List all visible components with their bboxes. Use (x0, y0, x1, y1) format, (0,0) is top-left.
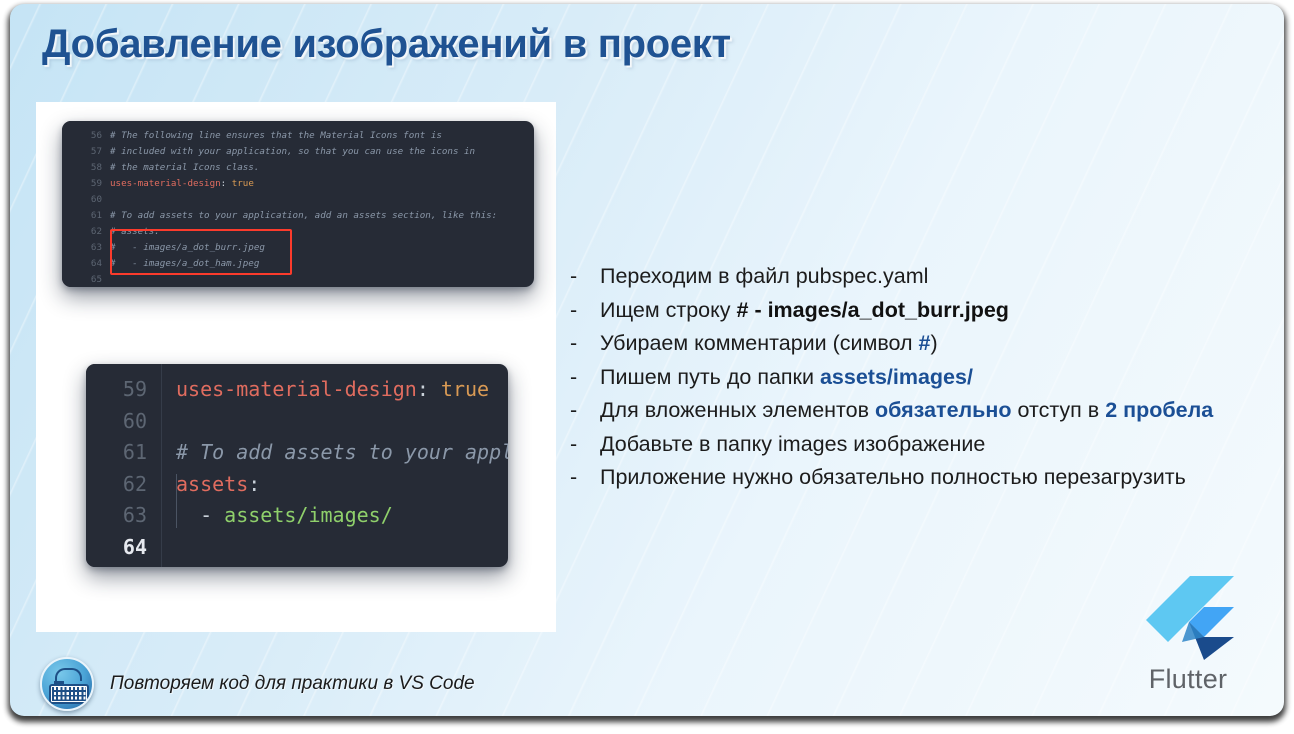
code-line: # - images/a_dot_ham.jpeg (110, 256, 534, 272)
footer-note: Повторяем код для практики в VS Code (40, 657, 475, 711)
text-run: assets/images/ (820, 365, 973, 389)
code-line (110, 192, 534, 208)
code-token: # included with your application, so tha… (110, 146, 475, 157)
list-bullet-dash: - (570, 294, 600, 328)
code-line (176, 532, 508, 564)
indent-guide (176, 474, 177, 528)
list-item-text: Приложение нужно обязательно полностью п… (600, 461, 1186, 495)
code-line: - assets/images/ (176, 500, 508, 532)
flutter-wordmark: Flutter (1118, 664, 1258, 695)
line-number: 57 (62, 144, 102, 160)
list-item-text: Убираем комментарии (символ #) (600, 327, 938, 361)
list-bullet-dash: - (570, 361, 600, 395)
list-item: -Пишем путь до папки assets/images/ (570, 361, 1282, 395)
code-token: assets/images/ (224, 503, 393, 527)
code-area-after: uses-material-design: true # To add asse… (162, 364, 508, 567)
code-token: # To add assets to your application, add… (110, 210, 497, 221)
line-number-gutter-before: 56575859606162636465 (62, 121, 110, 287)
line-number: 56 (62, 128, 102, 144)
code-line (110, 272, 534, 287)
text-run: Пишем путь до папки (600, 365, 820, 389)
code-token (110, 194, 116, 205)
list-bullet-dash: - (570, 260, 600, 294)
slide-canvas: Добавление изображений в проект 56575859… (10, 4, 1284, 716)
code-line: # included with your application, so tha… (110, 144, 534, 160)
line-number: 58 (62, 160, 102, 176)
code-token: # assets: (110, 226, 160, 237)
code-token: # The following line ensures that the Ma… (110, 130, 442, 141)
code-token: : (248, 472, 260, 496)
code-token: # - images/a_dot_burr.jpeg (110, 242, 265, 253)
page-title: Добавление изображений в проект (42, 22, 731, 67)
code-block-after: 596061626364 uses-material-design: true … (86, 364, 508, 567)
keyboard-keys (52, 687, 86, 701)
list-item-text: Переходим в файл pubspec.yaml (600, 260, 928, 294)
text-run: - images/a_dot_burr.jpeg (748, 298, 1008, 322)
code-line: # the material Icons class. (110, 160, 534, 176)
footer-text: Повторяем код для практики в VS Code (110, 673, 475, 695)
text-run: ) (931, 331, 938, 355)
code-token: : (417, 377, 441, 401)
list-bullet-dash: - (570, 428, 600, 462)
line-number: 65 (62, 272, 102, 287)
code-token (176, 535, 188, 559)
code-token (176, 409, 188, 433)
line-number: 60 (62, 192, 102, 208)
flutter-brand: Flutter (1118, 576, 1258, 698)
line-number: 61 (86, 437, 147, 469)
keyboard-cord (55, 668, 82, 681)
list-item-text: Добавьте в папку images изображение (600, 428, 985, 462)
code-line: # - images/a_dot_burr.jpeg (110, 240, 534, 256)
line-number: 63 (86, 500, 147, 532)
list-item-text: Ищем строку # - images/a_dot_burr.jpeg (600, 294, 1009, 328)
code-line: uses-material-design: true (110, 176, 534, 192)
code-line: assets: (176, 469, 508, 501)
line-number: 60 (86, 406, 147, 438)
text-run: Добавьте в папку images изображение (600, 432, 985, 456)
code-token: # - images/a_dot_ham.jpeg (110, 258, 259, 269)
line-number: 63 (62, 240, 102, 256)
code-token: # To add assets to your appl (176, 440, 508, 464)
code-token: true (232, 178, 254, 189)
text-run: Переходим в файл pubspec.yaml (600, 264, 928, 288)
text-run: Ищем строку (600, 298, 737, 322)
list-bullet-dash: - (570, 461, 600, 495)
text-run: Убираем комментарии (символ (600, 331, 919, 355)
list-item: -Убираем комментарии (символ #) (570, 327, 1282, 361)
code-token: # the material Icons class. (110, 162, 259, 173)
line-number: 62 (62, 224, 102, 240)
code-line: # The following line ensures that the Ma… (110, 128, 534, 144)
code-token: : (221, 178, 232, 189)
list-item-text: Пишем путь до папки assets/images/ (600, 361, 973, 395)
text-run: Приложение нужно обязательно полностью п… (600, 465, 1186, 489)
keyboard-icon (40, 657, 94, 711)
code-token: true (441, 377, 489, 401)
code-line: # assets: (110, 224, 534, 240)
list-bullet-dash: - (570, 327, 600, 361)
code-token: assets (176, 472, 248, 496)
line-number: 62 (86, 469, 147, 501)
code-line (176, 406, 508, 438)
list-item: -Для вложенных элементов обязательно отс… (570, 394, 1282, 428)
code-token: uses-material-design (176, 377, 417, 401)
list-item: -Переходим в файл pubspec.yaml (570, 260, 1282, 294)
text-run: # (919, 331, 931, 355)
code-line: # To add assets to your application, add… (110, 208, 534, 224)
text-run: 2 пробела (1105, 398, 1213, 422)
code-token: - (176, 503, 224, 527)
instruction-list: -Переходим в файл pubspec.yaml-Ищем стро… (570, 260, 1282, 495)
text-run: обязательно (875, 398, 1012, 422)
list-bullet-dash: - (570, 394, 600, 428)
flutter-logo-icon (1142, 576, 1234, 662)
text-run: # (737, 298, 749, 322)
code-line: # To add assets to your appl (176, 437, 508, 469)
line-number-gutter-after: 596061626364 (86, 364, 162, 567)
list-item: -Добавьте в папку images изображение (570, 428, 1282, 462)
code-token (110, 274, 116, 285)
line-number: 64 (86, 532, 147, 564)
text-run: Для вложенных элементов (600, 398, 875, 422)
line-number: 64 (62, 256, 102, 272)
code-token: uses-material-design (110, 178, 221, 189)
code-block-before: 56575859606162636465 # The following lin… (62, 121, 534, 287)
list-item-text: Для вложенных элементов обязательно отст… (600, 394, 1213, 428)
list-item: -Ищем строку # - images/a_dot_burr.jpeg (570, 294, 1282, 328)
code-line: uses-material-design: true (176, 374, 508, 406)
line-number: 59 (86, 374, 147, 406)
line-number: 61 (62, 208, 102, 224)
line-number: 59 (62, 176, 102, 192)
text-run: отступ в (1012, 398, 1106, 422)
list-item: -Приложение нужно обязательно полностью … (570, 461, 1282, 495)
code-area-before: # The following line ensures that the Ma… (110, 121, 534, 287)
